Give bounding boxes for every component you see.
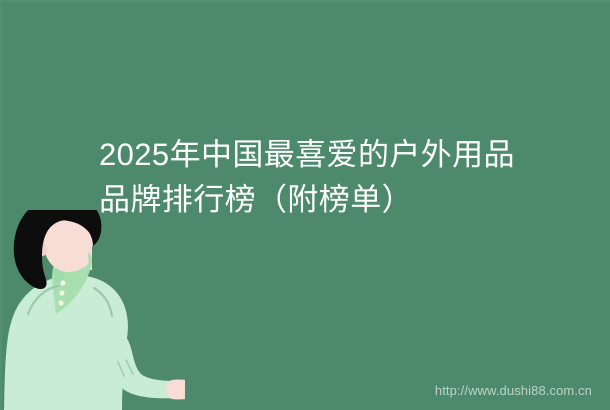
button-icon <box>60 280 65 285</box>
title-line-1: 2025年中国最喜爱的户外用品 <box>99 132 549 177</box>
person-illustration-svg <box>0 210 185 410</box>
page-title: 2025年中国最喜爱的户外用品 品牌排行榜（附榜单） <box>99 132 549 222</box>
button-icon <box>58 300 63 305</box>
title-line-2: 品牌排行榜（附榜单） <box>99 177 549 222</box>
hand-shape <box>166 380 185 400</box>
source-watermark-url: http://www.dushi88.com.cn <box>435 383 592 398</box>
button-icon <box>59 290 64 295</box>
article-cover-image: 2025年中国最喜爱的户外用品 品牌排行榜（附榜单） http://www.du… <box>0 0 610 410</box>
person-illustration <box>0 210 185 410</box>
